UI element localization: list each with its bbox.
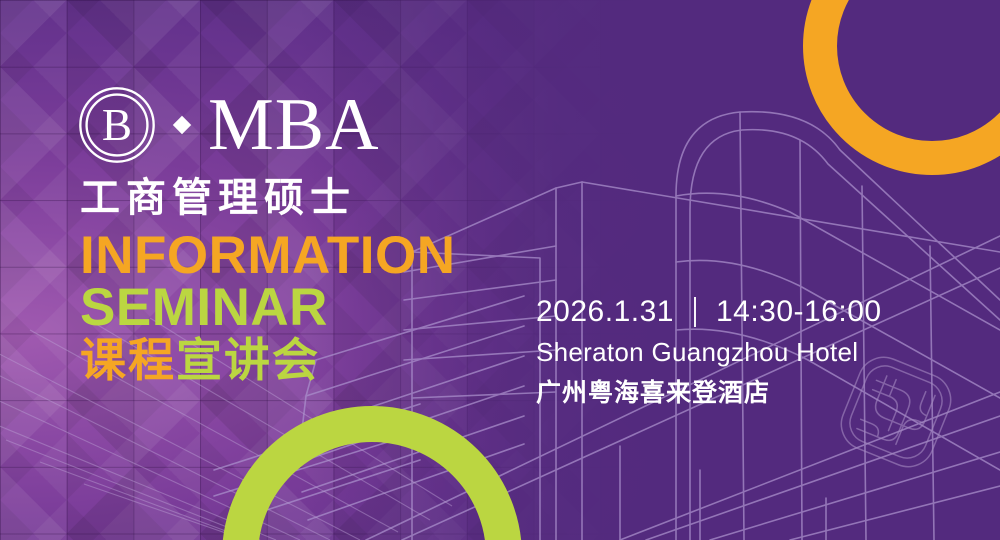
event-date: 2026.1.31 bbox=[536, 296, 674, 328]
circled-b-monogram-icon: B bbox=[78, 86, 156, 164]
event-venue-english: Sheraton Guangzhou Hotel bbox=[536, 337, 882, 368]
headline-line-information: INFORMATION bbox=[80, 230, 455, 282]
headline-line-seminar: SEMINAR bbox=[80, 282, 455, 334]
event-datetime: 2026.1.31 14:30-16:00 bbox=[536, 296, 882, 328]
brand-lockup: B MBA bbox=[78, 86, 380, 164]
headline-block: INFORMATION SEMINAR 课程宣讲会 bbox=[80, 230, 455, 383]
headline-chinese-prefix: 课程 bbox=[80, 334, 176, 386]
headline-chinese-suffix: 宣讲会 bbox=[176, 334, 320, 386]
diamond-dot-icon bbox=[172, 115, 192, 135]
brand-wordmark: MBA bbox=[208, 88, 380, 162]
headline-chinese: 课程宣讲会 bbox=[80, 338, 455, 383]
svg-text:B: B bbox=[102, 100, 132, 150]
event-details: 2026.1.31 14:30-16:00 Sheraton Guangzhou… bbox=[536, 296, 882, 409]
brand-chinese-name: 工商管理硕士 bbox=[80, 176, 356, 221]
event-venue-chinese: 广州粤海喜来登酒店 bbox=[536, 373, 882, 409]
datetime-separator bbox=[694, 297, 696, 327]
event-time: 14:30-16:00 bbox=[716, 296, 882, 328]
mba-seminar-poster: B MBA 工商管理硕士 INFORMATION SEMINAR 课程宣讲会 2… bbox=[0, 0, 1000, 540]
